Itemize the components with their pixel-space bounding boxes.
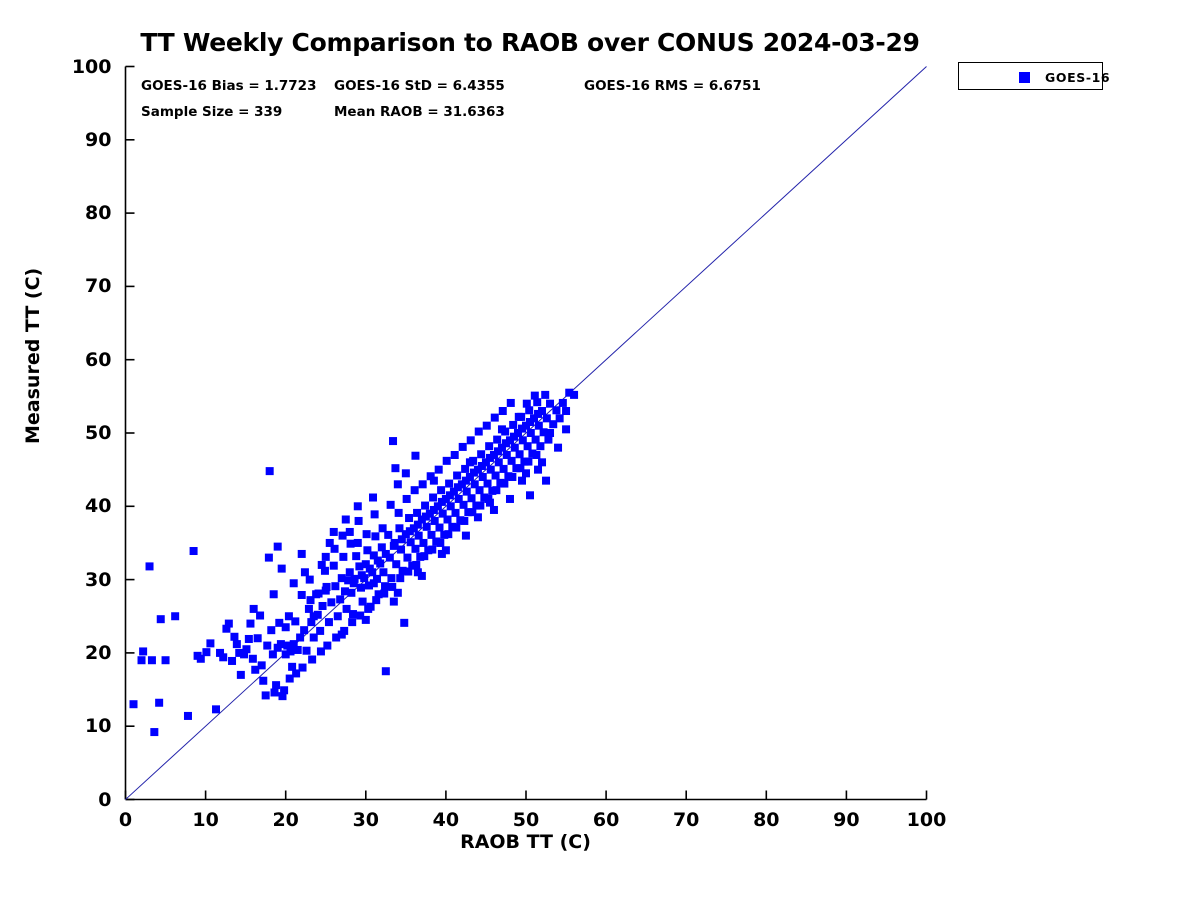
data-point: [414, 521, 422, 529]
legend-swatch-goes16: [1019, 72, 1030, 83]
x-tick-label: 100: [907, 809, 947, 831]
data-point: [202, 648, 210, 656]
data-point: [554, 444, 562, 452]
data-point: [491, 414, 499, 422]
data-point: [162, 656, 170, 664]
data-point: [490, 506, 498, 514]
x-tick-label: 20: [272, 809, 298, 831]
data-point: [379, 524, 387, 532]
data-point: [422, 513, 430, 521]
x-tick-label: 80: [753, 809, 779, 831]
data-point: [507, 399, 515, 407]
stat-sample-size: Sample Size = 339: [141, 104, 282, 120]
data-point: [327, 598, 335, 606]
stat-bias: GOES-16 Bias = 1.7723: [141, 78, 316, 94]
data-point: [523, 400, 531, 408]
data-point: [493, 436, 501, 444]
data-point: [444, 530, 452, 538]
data-point: [354, 539, 362, 547]
data-point: [155, 699, 163, 707]
data-point: [371, 510, 379, 518]
data-point: [477, 450, 485, 458]
data-point: [508, 457, 516, 465]
data-point: [430, 506, 438, 514]
data-point: [265, 554, 273, 562]
data-point: [506, 495, 514, 503]
data-point: [270, 590, 278, 598]
data-point: [362, 616, 370, 624]
data-point: [157, 615, 165, 623]
data-point: [298, 550, 306, 558]
data-point: [139, 647, 147, 655]
data-point: [454, 483, 462, 491]
data-point: [402, 469, 410, 477]
data-point: [419, 539, 427, 547]
data-point: [452, 524, 460, 532]
data-point: [451, 451, 459, 459]
data-point: [322, 587, 330, 595]
data-point: [364, 605, 372, 613]
data-point: [534, 466, 542, 474]
data-point: [395, 509, 403, 517]
data-point: [515, 413, 523, 421]
data-point: [486, 499, 494, 507]
data-point: [262, 691, 270, 699]
data-point: [354, 502, 362, 510]
data-point: [502, 439, 510, 447]
data-point: [562, 425, 570, 433]
data-point: [420, 552, 428, 560]
data-point: [484, 480, 492, 488]
data-point: [339, 553, 347, 561]
data-point: [388, 583, 396, 591]
data-point: [342, 515, 350, 523]
data-point: [206, 639, 214, 647]
data-point: [460, 501, 468, 509]
data-point: [278, 565, 286, 573]
data-point: [258, 661, 266, 669]
plot-canvas: [0, 0, 1200, 900]
data-point: [228, 657, 236, 665]
x-tick-label: 0: [119, 809, 132, 831]
data-point: [381, 582, 389, 590]
data-point: [524, 458, 532, 466]
data-point: [363, 530, 371, 538]
data-point: [518, 477, 526, 485]
data-point: [396, 574, 404, 582]
x-tick-label: 10: [192, 809, 218, 831]
data-point: [467, 436, 475, 444]
data-point: [429, 494, 437, 502]
data-point: [382, 550, 390, 558]
data-point: [148, 656, 156, 664]
data-points: [130, 389, 579, 736]
data-point: [436, 539, 444, 547]
data-point: [442, 546, 450, 554]
data-point: [331, 582, 339, 590]
x-axis-title: RAOB TT (C): [125, 831, 926, 853]
data-point: [374, 557, 382, 565]
data-point: [421, 502, 429, 510]
data-point: [369, 494, 377, 502]
data-point: [359, 598, 367, 606]
data-point: [298, 591, 306, 599]
scatter-plot-figure: TT Weekly Comparison to RAOB over CONUS …: [0, 0, 1200, 900]
data-point: [494, 447, 502, 455]
data-point: [339, 532, 347, 540]
data-point: [534, 410, 542, 418]
data-point: [446, 491, 454, 499]
data-point: [483, 422, 491, 430]
data-point: [242, 645, 250, 653]
data-point: [542, 477, 550, 485]
data-point: [478, 462, 486, 470]
data-point: [334, 612, 342, 620]
x-tick-label: 40: [433, 809, 459, 831]
data-point: [352, 552, 360, 560]
data-point: [403, 554, 411, 562]
data-point: [250, 605, 258, 613]
data-point: [538, 458, 546, 466]
data-point: [307, 596, 315, 604]
data-point: [445, 480, 453, 488]
data-point: [430, 477, 438, 485]
data-point: [146, 562, 154, 570]
data-point: [382, 667, 390, 675]
data-point: [411, 545, 419, 553]
data-point: [270, 688, 278, 696]
data-point: [370, 579, 378, 587]
data-point: [443, 457, 451, 465]
data-point: [299, 664, 307, 672]
data-point: [437, 486, 445, 494]
data-point: [397, 546, 405, 554]
data-point: [470, 469, 478, 477]
y-tick-label: 10: [0, 715, 112, 737]
one-to-one-line: [126, 67, 927, 800]
data-point: [405, 514, 413, 522]
data-point: [532, 451, 540, 459]
data-point: [272, 681, 280, 689]
data-point: [266, 467, 274, 475]
data-point: [138, 656, 146, 664]
y-tick-label: 100: [0, 56, 112, 78]
data-point: [230, 633, 238, 641]
data-point: [536, 442, 544, 450]
data-point: [516, 450, 524, 458]
data-point: [330, 562, 338, 570]
data-point: [411, 452, 419, 460]
data-point: [390, 598, 398, 606]
data-point: [349, 610, 357, 618]
data-point: [184, 712, 192, 720]
data-point: [347, 540, 355, 548]
data-point: [492, 486, 500, 494]
y-tick-label: 20: [0, 642, 112, 664]
data-point: [524, 442, 532, 450]
data-point: [522, 469, 530, 477]
data-point: [346, 528, 354, 536]
data-point: [500, 480, 508, 488]
data-point: [475, 428, 483, 436]
x-tick-label: 50: [513, 809, 539, 831]
y-tick-label: 70: [0, 275, 112, 297]
data-point: [267, 626, 275, 634]
data-point: [254, 634, 262, 642]
y-tick-label: 50: [0, 422, 112, 444]
data-point: [294, 646, 302, 654]
data-point: [453, 472, 461, 480]
data-point: [387, 574, 395, 582]
data-point: [562, 407, 570, 415]
data-point: [556, 414, 564, 422]
data-point: [212, 705, 220, 713]
data-point: [508, 473, 516, 481]
data-point: [305, 605, 313, 613]
y-tick-label: 80: [0, 202, 112, 224]
data-point: [499, 407, 507, 415]
stat-mean-raob: Mean RAOB = 31.6363: [334, 104, 505, 120]
data-point: [300, 626, 308, 634]
data-point: [357, 584, 365, 592]
y-tick-label: 90: [0, 129, 112, 151]
data-point: [459, 443, 467, 451]
data-point: [415, 532, 423, 540]
x-tick-label: 30: [353, 809, 379, 831]
data-point: [486, 454, 494, 462]
data-point: [485, 442, 493, 450]
data-point: [500, 465, 508, 473]
data-point: [387, 501, 395, 509]
legend-label-goes16: GOES-16: [1045, 70, 1110, 85]
data-point: [526, 491, 534, 499]
y-tick-label: 60: [0, 349, 112, 371]
data-point: [323, 642, 331, 650]
x-tick-label: 70: [673, 809, 699, 831]
y-tick-label: 0: [0, 789, 112, 811]
data-point: [366, 565, 374, 573]
data-point: [233, 640, 241, 648]
data-point: [559, 399, 567, 407]
data-point: [325, 618, 333, 626]
data-point: [498, 425, 506, 433]
data-point: [418, 572, 426, 580]
data-point: [259, 677, 267, 685]
data-point: [380, 590, 388, 598]
data-point: [348, 618, 356, 626]
data-point: [412, 561, 420, 569]
data-point: [130, 700, 138, 708]
data-point: [391, 464, 399, 472]
data-point: [350, 579, 358, 587]
data-point: [444, 515, 452, 523]
data-point: [171, 612, 179, 620]
y-tick-label: 40: [0, 495, 112, 517]
data-point: [492, 472, 500, 480]
data-point: [225, 620, 233, 628]
data-point: [301, 568, 309, 576]
data-point: [526, 418, 534, 426]
data-point: [150, 728, 158, 736]
data-point: [379, 568, 387, 576]
data-point: [319, 602, 327, 610]
data-point: [282, 623, 290, 631]
data-point: [460, 517, 468, 525]
data-point: [303, 647, 311, 655]
data-point: [462, 532, 470, 540]
data-point: [403, 495, 411, 503]
data-point: [428, 546, 436, 554]
stat-std: GOES-16 StD = 6.4355: [334, 78, 505, 94]
data-point: [474, 513, 482, 521]
data-point: [318, 561, 326, 569]
data-point: [249, 655, 257, 663]
data-point: [466, 458, 474, 466]
data-point: [326, 539, 334, 547]
data-point: [355, 517, 363, 525]
data-point: [476, 486, 484, 494]
data-point: [462, 477, 470, 485]
data-point: [541, 391, 549, 399]
data-point: [322, 553, 330, 561]
data-point: [296, 634, 304, 642]
data-point: [338, 631, 346, 639]
data-point: [570, 391, 578, 399]
data-point: [245, 635, 253, 643]
y-tick-label: 30: [0, 569, 112, 591]
x-tick-label: 60: [593, 809, 619, 831]
data-point: [438, 498, 446, 506]
x-tick-label: 90: [833, 809, 859, 831]
data-point: [423, 523, 431, 531]
data-point: [389, 437, 397, 445]
data-point: [398, 535, 406, 543]
data-point: [372, 596, 380, 604]
data-point: [435, 466, 443, 474]
data-point: [219, 653, 227, 661]
data-point: [274, 543, 282, 551]
legend: GOES-16: [958, 62, 1103, 90]
data-point: [531, 392, 539, 400]
data-point: [546, 429, 554, 437]
data-point: [406, 527, 414, 535]
data-point: [237, 671, 245, 679]
data-point: [310, 612, 318, 620]
data-point: [419, 480, 427, 488]
data-point: [263, 642, 271, 650]
data-point: [290, 579, 298, 587]
data-point: [287, 647, 295, 655]
data-point: [315, 590, 323, 598]
data-point: [404, 568, 412, 576]
data-point: [509, 421, 517, 429]
data-point: [510, 433, 518, 441]
data-point: [518, 425, 526, 433]
stat-rms: GOES-16 RMS = 6.6751: [584, 78, 761, 94]
data-point: [291, 617, 299, 625]
data-point: [468, 494, 476, 502]
data-point: [308, 655, 316, 663]
data-point: [336, 595, 344, 603]
data-point: [190, 547, 198, 555]
data-point: [411, 486, 419, 494]
data-point: [246, 620, 254, 628]
data-point: [435, 524, 443, 532]
data-point: [371, 532, 379, 540]
data-point: [390, 542, 398, 550]
data-point: [552, 406, 560, 414]
data-point: [330, 528, 338, 536]
data-point: [306, 576, 314, 584]
data-point: [452, 509, 460, 517]
data-point: [347, 589, 355, 597]
data-point: [316, 627, 324, 635]
data-point: [400, 619, 408, 627]
data-point: [394, 480, 402, 488]
data-point: [358, 571, 366, 579]
data-point: [280, 686, 288, 694]
data-point: [476, 502, 484, 510]
